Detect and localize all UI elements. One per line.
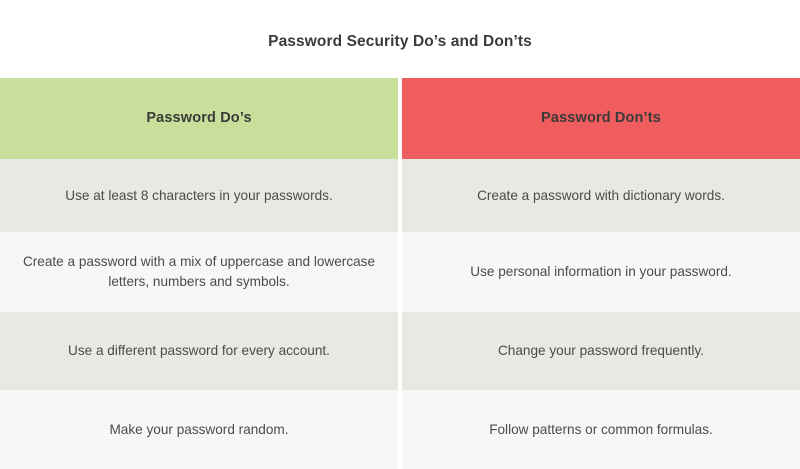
table-cell-text: Create a password with a mix of uppercas… <box>18 252 380 291</box>
table-cell-do: Use at least 8 characters in your passwo… <box>0 159 398 232</box>
table-cell-text: Create a password with dictionary words. <box>477 186 725 206</box>
table-cell-dont: Use personal information in your passwor… <box>402 232 800 312</box>
table-cell-text: Change your password frequently. <box>498 341 704 361</box>
table-row: Use a different password for every accou… <box>0 312 800 390</box>
table-cell-do: Create a password with a mix of uppercas… <box>0 232 398 312</box>
table-header-row: Password Do’s Password Don’ts <box>0 78 800 159</box>
column-header-dont: Password Don’ts <box>402 78 800 159</box>
table-cell-text: Use a different password for every accou… <box>68 341 330 361</box>
table-cell-do: Use a different password for every accou… <box>0 312 398 390</box>
table-cell-do: Make your password random. <box>0 390 398 469</box>
title-area: Password Security Do’s and Don’ts <box>0 0 800 78</box>
page-title: Password Security Do’s and Don’ts <box>268 33 532 52</box>
table-row: Use at least 8 characters in your passwo… <box>0 159 800 232</box>
table-row: Create a password with a mix of uppercas… <box>0 232 800 312</box>
table-cell-text: Use personal information in your passwor… <box>470 262 731 282</box>
column-header-do-label: Password Do’s <box>146 108 251 129</box>
table-row: Make your password random. Follow patter… <box>0 390 800 469</box>
table-cell-text: Follow patterns or common formulas. <box>489 420 713 440</box>
table-cell-dont: Follow patterns or common formulas. <box>402 390 800 469</box>
column-header-dont-label: Password Don’ts <box>541 108 661 129</box>
table-cell-text: Use at least 8 characters in your passwo… <box>65 186 332 206</box>
table-cell-dont: Create a password with dictionary words. <box>402 159 800 232</box>
table-cell-dont: Change your password frequently. <box>402 312 800 390</box>
table-cell-text: Make your password random. <box>109 420 288 440</box>
password-security-infographic: Password Security Do’s and Don’ts Passwo… <box>0 0 800 469</box>
do-dont-table: Password Do’s Password Don’ts Use at lea… <box>0 78 800 469</box>
column-header-do: Password Do’s <box>0 78 398 159</box>
